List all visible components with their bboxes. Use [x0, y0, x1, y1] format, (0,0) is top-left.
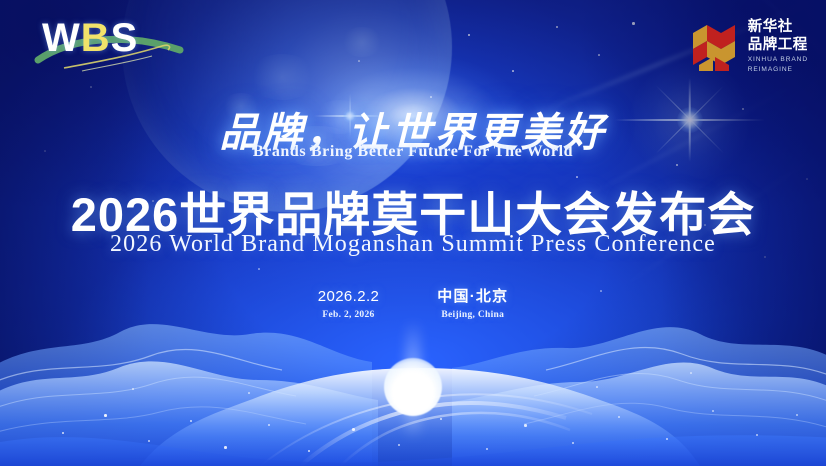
rising-sun-dome — [384, 358, 442, 416]
xinhua-en-line-1: XINHUA BRAND — [748, 55, 808, 65]
wbs-letter-s: S — [111, 16, 139, 60]
poster-canvas: WBS 新华社 品牌工程 XINHUA BRAND REIMAGINE 品牌，让… — [0, 0, 826, 466]
event-location-sub: Beijing, China — [437, 310, 508, 320]
xinhua-brand-logo[interactable]: 新华社 品牌工程 XINHUA BRAND REIMAGINE — [693, 20, 808, 75]
xinhua-wordmark: 新华社 品牌工程 XINHUA BRAND REIMAGINE — [748, 20, 808, 75]
event-date-main: 2026.2.2 — [318, 288, 380, 307]
xinhua-cn-line-1: 新华社 — [748, 20, 808, 35]
wbs-letter-b: B — [81, 16, 111, 60]
event-location: 中国·北京 Beijing, China — [437, 288, 508, 320]
wbs-wordmark: WBS — [42, 18, 138, 58]
tagline-english: Brands Bring Better Future For The World — [0, 143, 826, 161]
xinhua-cn-line-2: 品牌工程 — [748, 38, 808, 53]
xinhua-en-line-2: REIMAGINE — [748, 65, 808, 75]
wbs-letter-w: W — [42, 16, 81, 60]
event-location-main: 中国·北京 — [437, 288, 508, 307]
event-date-sub: Feb. 2, 2026 — [318, 310, 380, 320]
page-title-english: 2026 World Brand Moganshan Summit Press … — [0, 231, 826, 258]
wbs-logo[interactable]: WBS — [34, 16, 186, 76]
xinhua-pinwheel-icon — [693, 25, 739, 71]
event-meta-row: 2026.2.2 Feb. 2, 2026 中国·北京 Beijing, Chi… — [0, 288, 826, 320]
event-date: 2026.2.2 Feb. 2, 2026 — [318, 288, 380, 320]
